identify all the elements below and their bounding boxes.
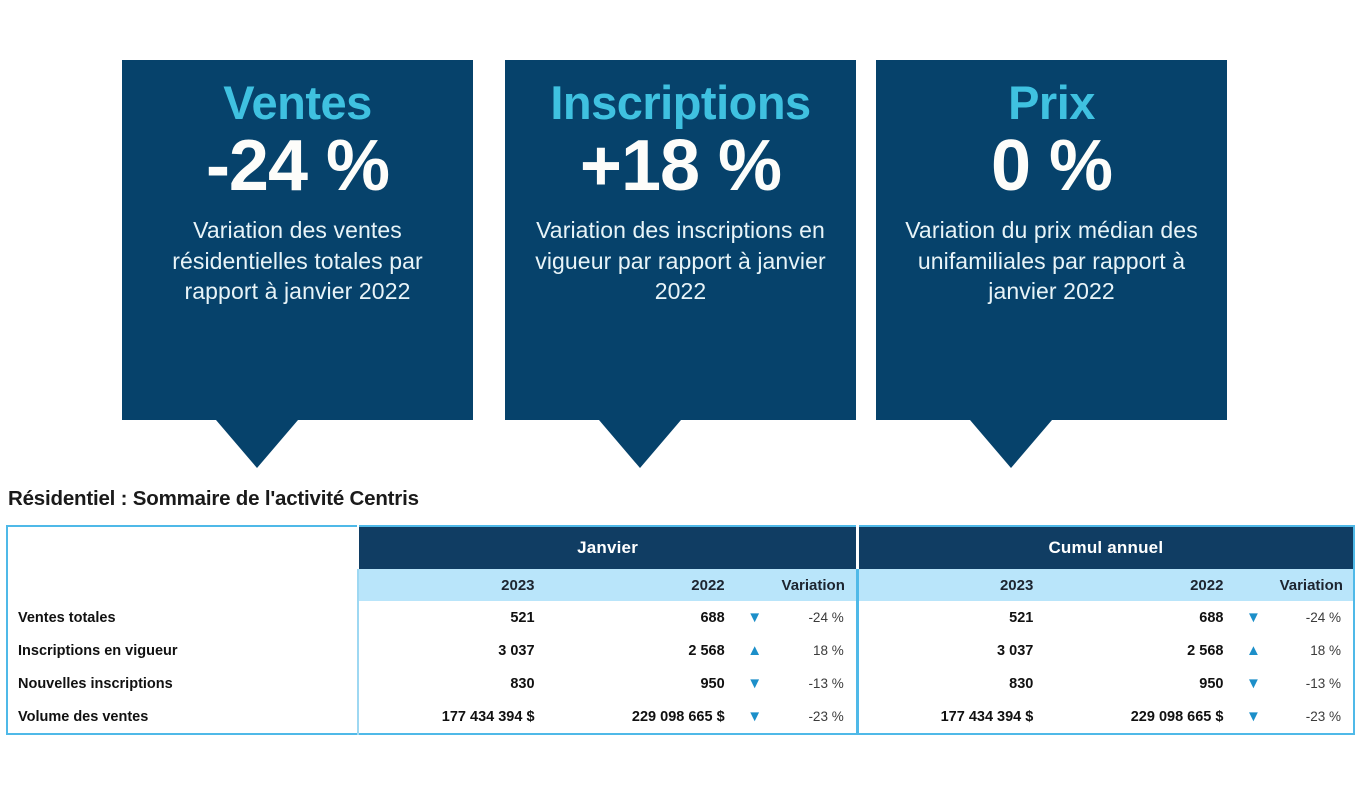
table-row: Volume des ventes 177 434 394 $ 229 098 … (7, 700, 1354, 734)
cell-janvier-2022: 688 (549, 601, 739, 634)
arrow-down-icon: ▼ (1237, 700, 1269, 734)
table-group-header-row: Janvier Cumul annuel (7, 526, 1354, 569)
cell-cumul-2023: 521 (857, 601, 1047, 634)
table-row: Inscriptions en vigueur 3 037 2 568 ▲ 18… (7, 634, 1354, 667)
cell-janvier-variation: -23 % (771, 700, 858, 734)
cell-janvier-2023: 830 (358, 667, 548, 700)
cell-janvier-2023: 3 037 (358, 634, 548, 667)
arrow-down-icon: ▼ (739, 601, 771, 634)
kpi-card-pointer-prix (970, 420, 1052, 468)
kpi-card-pointer-inscriptions (599, 420, 681, 468)
row-label: Inscriptions en vigueur (7, 634, 358, 667)
arrow-down-icon: ▼ (1237, 667, 1269, 700)
arrow-down-icon: ▼ (739, 700, 771, 734)
table-group-header-janvier: Janvier (358, 526, 857, 569)
kpi-card-description: Variation du prix médian des unifamilial… (890, 215, 1213, 307)
table-body: Ventes totales 521 688 ▼ -24 % 521 688 ▼… (7, 601, 1354, 734)
cell-cumul-variation: -23 % (1270, 700, 1355, 734)
arrow-glyph: ▼ (747, 709, 762, 724)
summary-table-section: Résidentiel : Sommaire de l'activité Cen… (0, 487, 1361, 735)
arrow-glyph: ▼ (1246, 709, 1261, 724)
kpi-card-value: -24 % (136, 129, 459, 205)
table-subheader-janvier-2022: 2022 (549, 569, 739, 601)
cell-janvier-variation: -24 % (771, 601, 858, 634)
table-subheader-cumul-variation: Variation (1270, 569, 1355, 601)
table-subheader-blank (7, 569, 358, 601)
cell-janvier-2022: 229 098 665 $ (549, 700, 739, 734)
cell-janvier-2022: 2 568 (549, 634, 739, 667)
arrow-glyph: ▼ (747, 610, 762, 625)
table-row: Nouvelles inscriptions 830 950 ▼ -13 % 8… (7, 667, 1354, 700)
arrow-glyph: ▼ (747, 676, 762, 691)
arrow-glyph: ▲ (1246, 643, 1261, 658)
kpi-card-prix: Prix 0 % Variation du prix médian des un… (876, 60, 1227, 420)
table-subheader-cumul-2022: 2022 (1047, 569, 1237, 601)
arrow-glyph: ▲ (747, 643, 762, 658)
table-row: Ventes totales 521 688 ▼ -24 % 521 688 ▼… (7, 601, 1354, 634)
cell-cumul-2022: 950 (1047, 667, 1237, 700)
cell-cumul-2022: 229 098 665 $ (1047, 700, 1237, 734)
arrow-glyph: ▼ (1246, 676, 1261, 691)
residential-summary-table: Janvier Cumul annuel 2023 2022 Variation… (6, 525, 1355, 735)
arrow-down-icon: ▼ (739, 667, 771, 700)
cell-cumul-variation: 18 % (1270, 634, 1355, 667)
table-heading: Résidentiel : Sommaire de l'activité Cen… (8, 487, 1361, 511)
arrow-down-icon: ▼ (1237, 601, 1269, 634)
kpi-card-value: 0 % (890, 129, 1213, 205)
arrow-up-icon: ▲ (739, 634, 771, 667)
cell-cumul-2022: 688 (1047, 601, 1237, 634)
arrow-up-icon: ▲ (1237, 634, 1269, 667)
cell-cumul-2023: 177 434 394 $ (857, 700, 1047, 734)
kpi-card-title: Prix (890, 78, 1213, 127)
kpi-card-description: Variation des inscriptions en vigueur pa… (519, 215, 842, 307)
table-subheader-janvier-variation: Variation (771, 569, 858, 601)
kpi-card-title: Inscriptions (519, 78, 842, 127)
row-label: Ventes totales (7, 601, 358, 634)
arrow-glyph: ▼ (1246, 610, 1261, 625)
cell-janvier-2023: 521 (358, 601, 548, 634)
cell-cumul-2023: 830 (857, 667, 1047, 700)
kpi-card-group: Ventes -24 % Variation des ventes réside… (0, 0, 1361, 480)
cell-cumul-variation: -24 % (1270, 601, 1355, 634)
kpi-card-ventes: Ventes -24 % Variation des ventes réside… (122, 60, 473, 420)
cell-janvier-2022: 950 (549, 667, 739, 700)
table-corner-cell (7, 526, 358, 569)
row-label: Nouvelles inscriptions (7, 667, 358, 700)
table-subheader-cumul-2023: 2023 (857, 569, 1047, 601)
table-subheader-janvier-arrow-spacer (739, 569, 771, 601)
cell-cumul-2023: 3 037 (857, 634, 1047, 667)
kpi-card-pointer-ventes (216, 420, 298, 468)
kpi-card-inscriptions: Inscriptions +18 % Variation des inscrip… (505, 60, 856, 420)
cell-cumul-2022: 2 568 (1047, 634, 1237, 667)
cell-cumul-variation: -13 % (1270, 667, 1355, 700)
table-group-header-cumul-annuel: Cumul annuel (857, 526, 1354, 569)
cell-janvier-2023: 177 434 394 $ (358, 700, 548, 734)
table-subheader-janvier-2023: 2023 (358, 569, 548, 601)
cell-janvier-variation: 18 % (771, 634, 858, 667)
cell-janvier-variation: -13 % (771, 667, 858, 700)
kpi-card-description: Variation des ventes résidentielles tota… (136, 215, 459, 307)
kpi-card-title: Ventes (136, 78, 459, 127)
row-label: Volume des ventes (7, 700, 358, 734)
table-subheader-cumul-arrow-spacer (1237, 569, 1269, 601)
table-sub-header-row: 2023 2022 Variation 2023 2022 Variation (7, 569, 1354, 601)
kpi-card-value: +18 % (519, 129, 842, 205)
